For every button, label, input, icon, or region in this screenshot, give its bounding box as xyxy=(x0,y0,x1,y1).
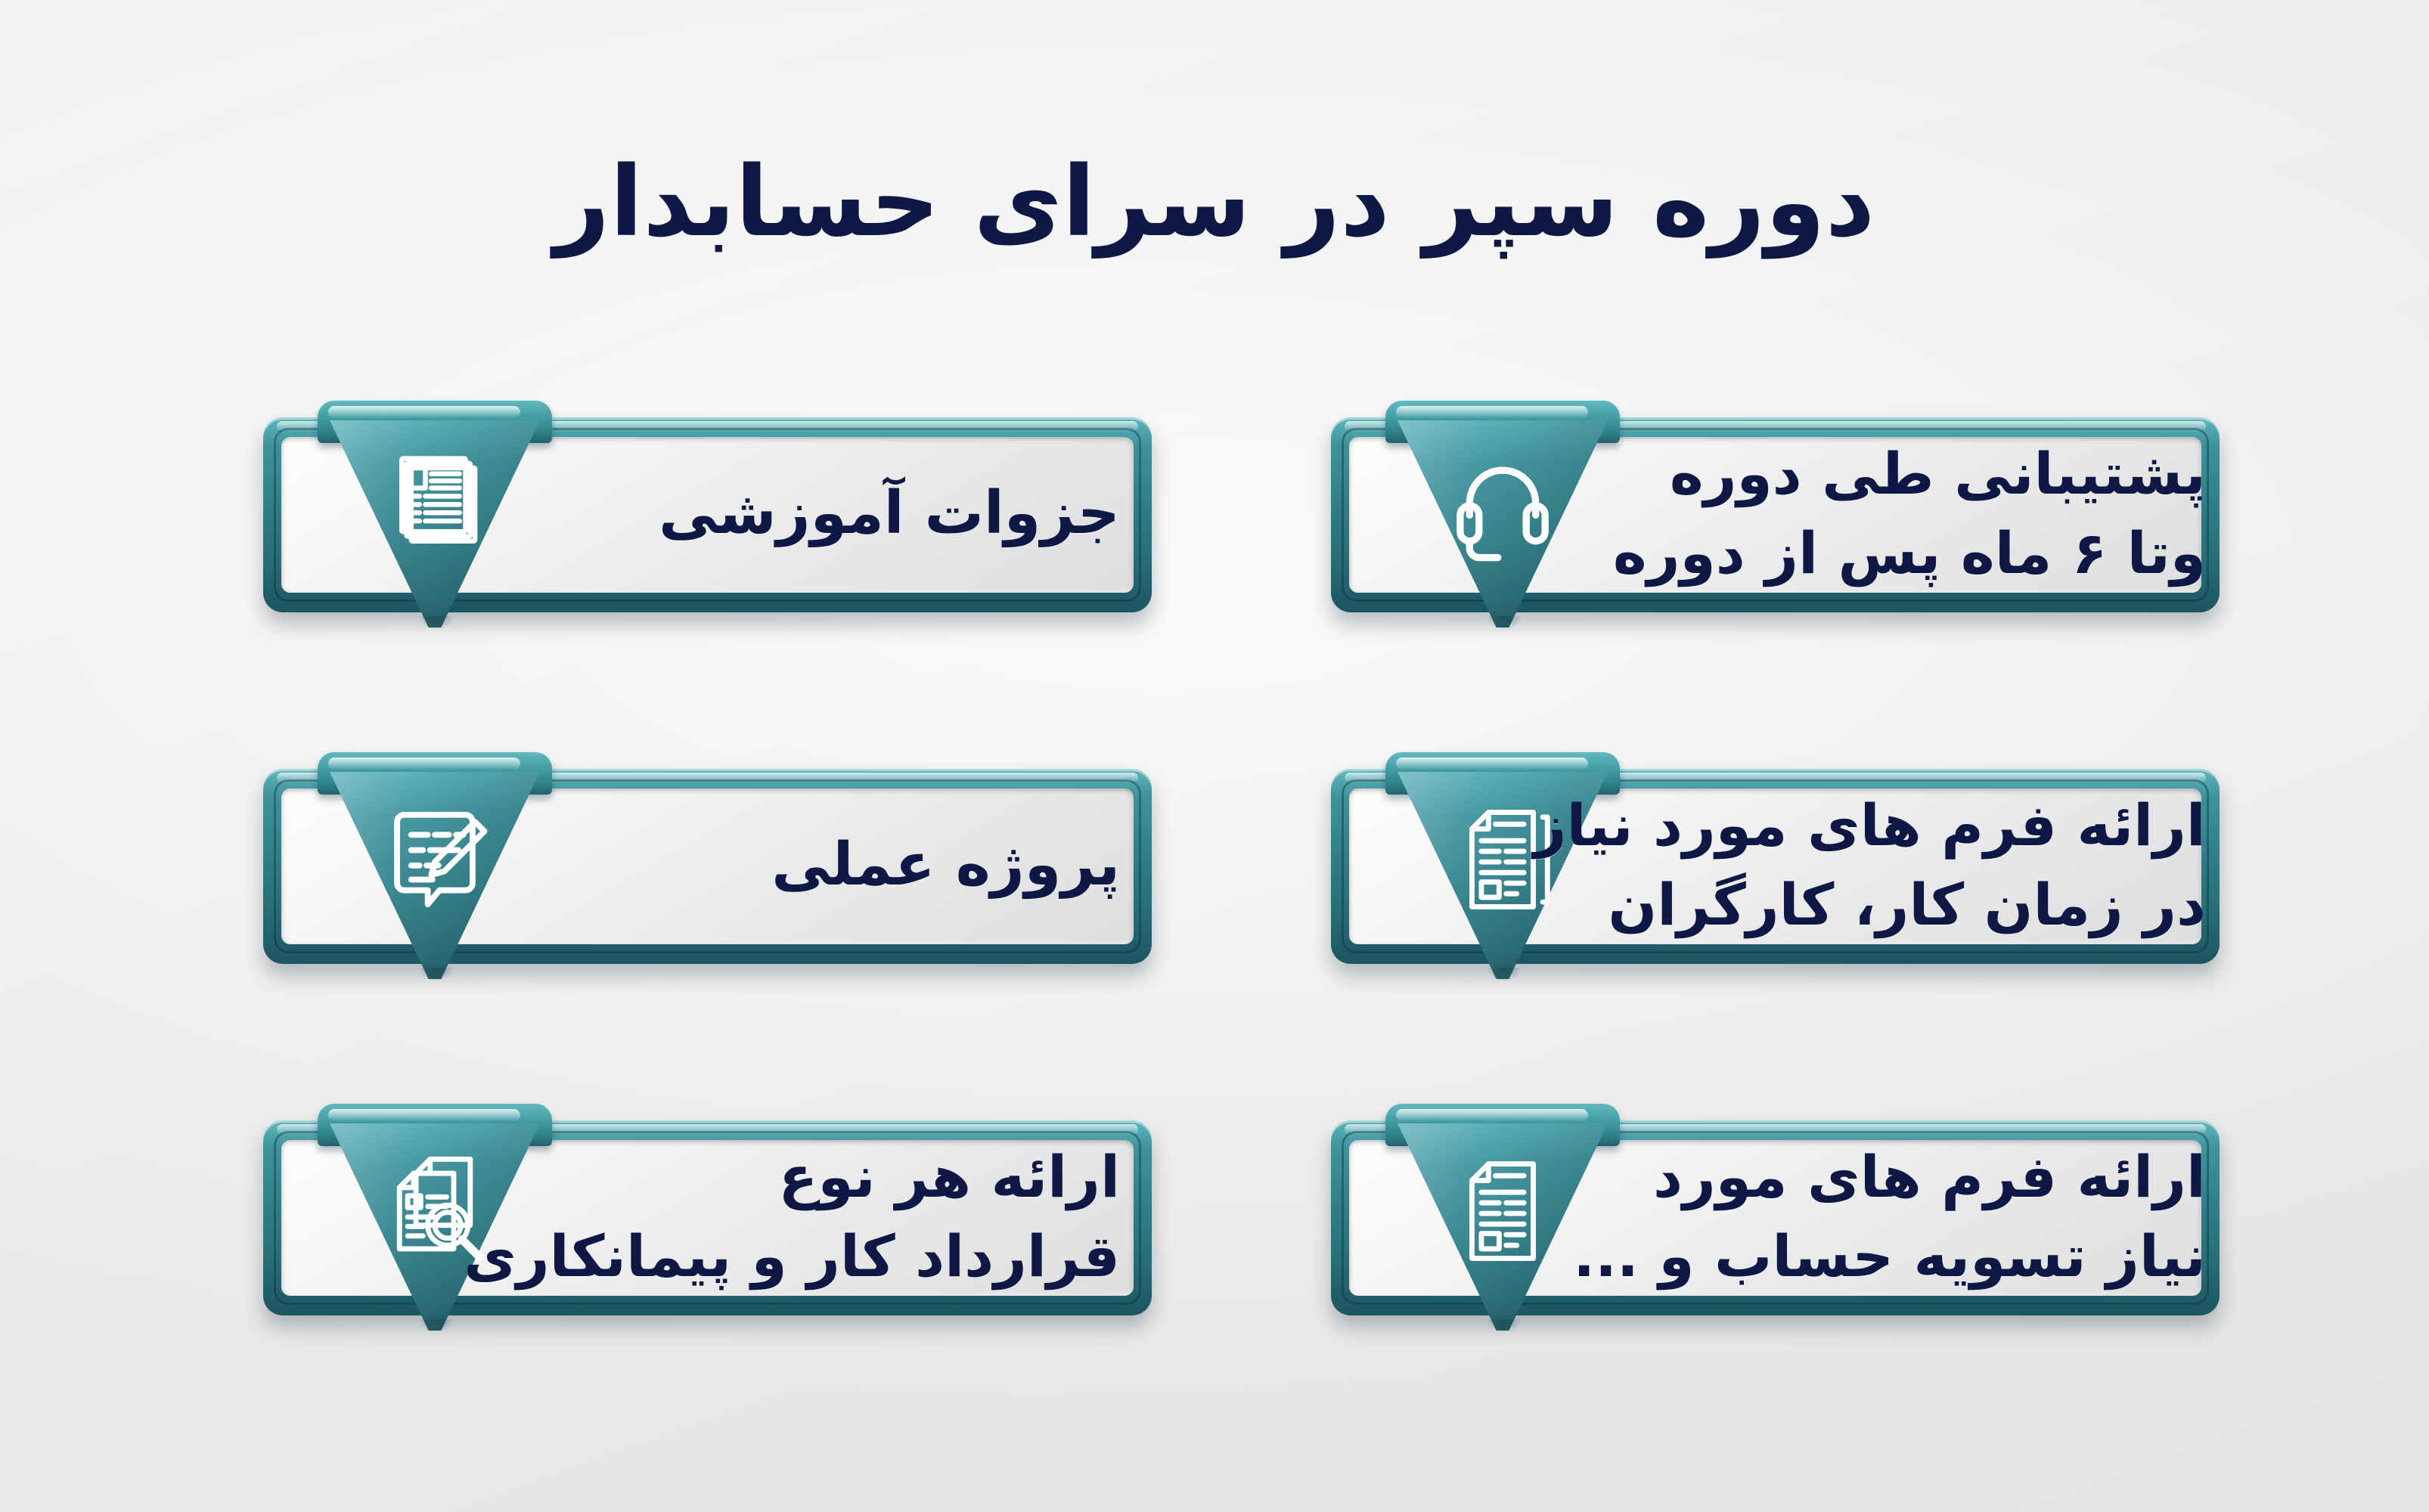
ribbon-tip-shadow xyxy=(1487,1319,1522,1333)
card-label: ارائه فرم های مورد نیاز تسویه حساب و ... xyxy=(1573,1138,2206,1297)
feature-card-work-forms[interactable]: ارائه فرم های مورد نیاز در زمان کار، کار… xyxy=(1331,752,2220,979)
feature-card-contracts[interactable]: ارائه هر نوع قرارداد کار و پیمانکاری xyxy=(263,1104,1152,1331)
card-label: پشتیبانی طی دوره وتا ۶ ماه پس از دوره xyxy=(1613,435,2206,593)
ribbon-tip-shadow xyxy=(1487,616,1522,630)
card-label: ارائه فرم های مورد نیاز در زمان کار، کار… xyxy=(1534,786,2206,945)
feature-card-handouts[interactable]: جزوات آموزشی xyxy=(263,401,1152,627)
ribbon-tip-shadow xyxy=(419,968,454,981)
card-label: پروژه عملی xyxy=(771,825,1120,906)
ribbon-tip-shadow xyxy=(419,1319,454,1333)
feature-card-settlement-forms[interactable]: ارائه فرم های مورد نیاز تسویه حساب و ... xyxy=(1331,1104,2220,1331)
feature-card-support[interactable]: پشتیبانی طی دوره وتا ۶ ماه پس از دوره xyxy=(1331,401,2220,627)
feature-card-project[interactable]: پروژه عملی xyxy=(263,752,1152,979)
ribbon-tip-shadow xyxy=(419,616,454,630)
card-label: جزوات آموزشی xyxy=(659,473,1120,555)
ribbon-tip-shadow xyxy=(1487,968,1522,981)
page-title: دوره سپر در سرای حسابدار xyxy=(0,147,2429,258)
card-label: ارائه هر نوع قرارداد کار و پیمانکاری xyxy=(464,1138,1120,1297)
